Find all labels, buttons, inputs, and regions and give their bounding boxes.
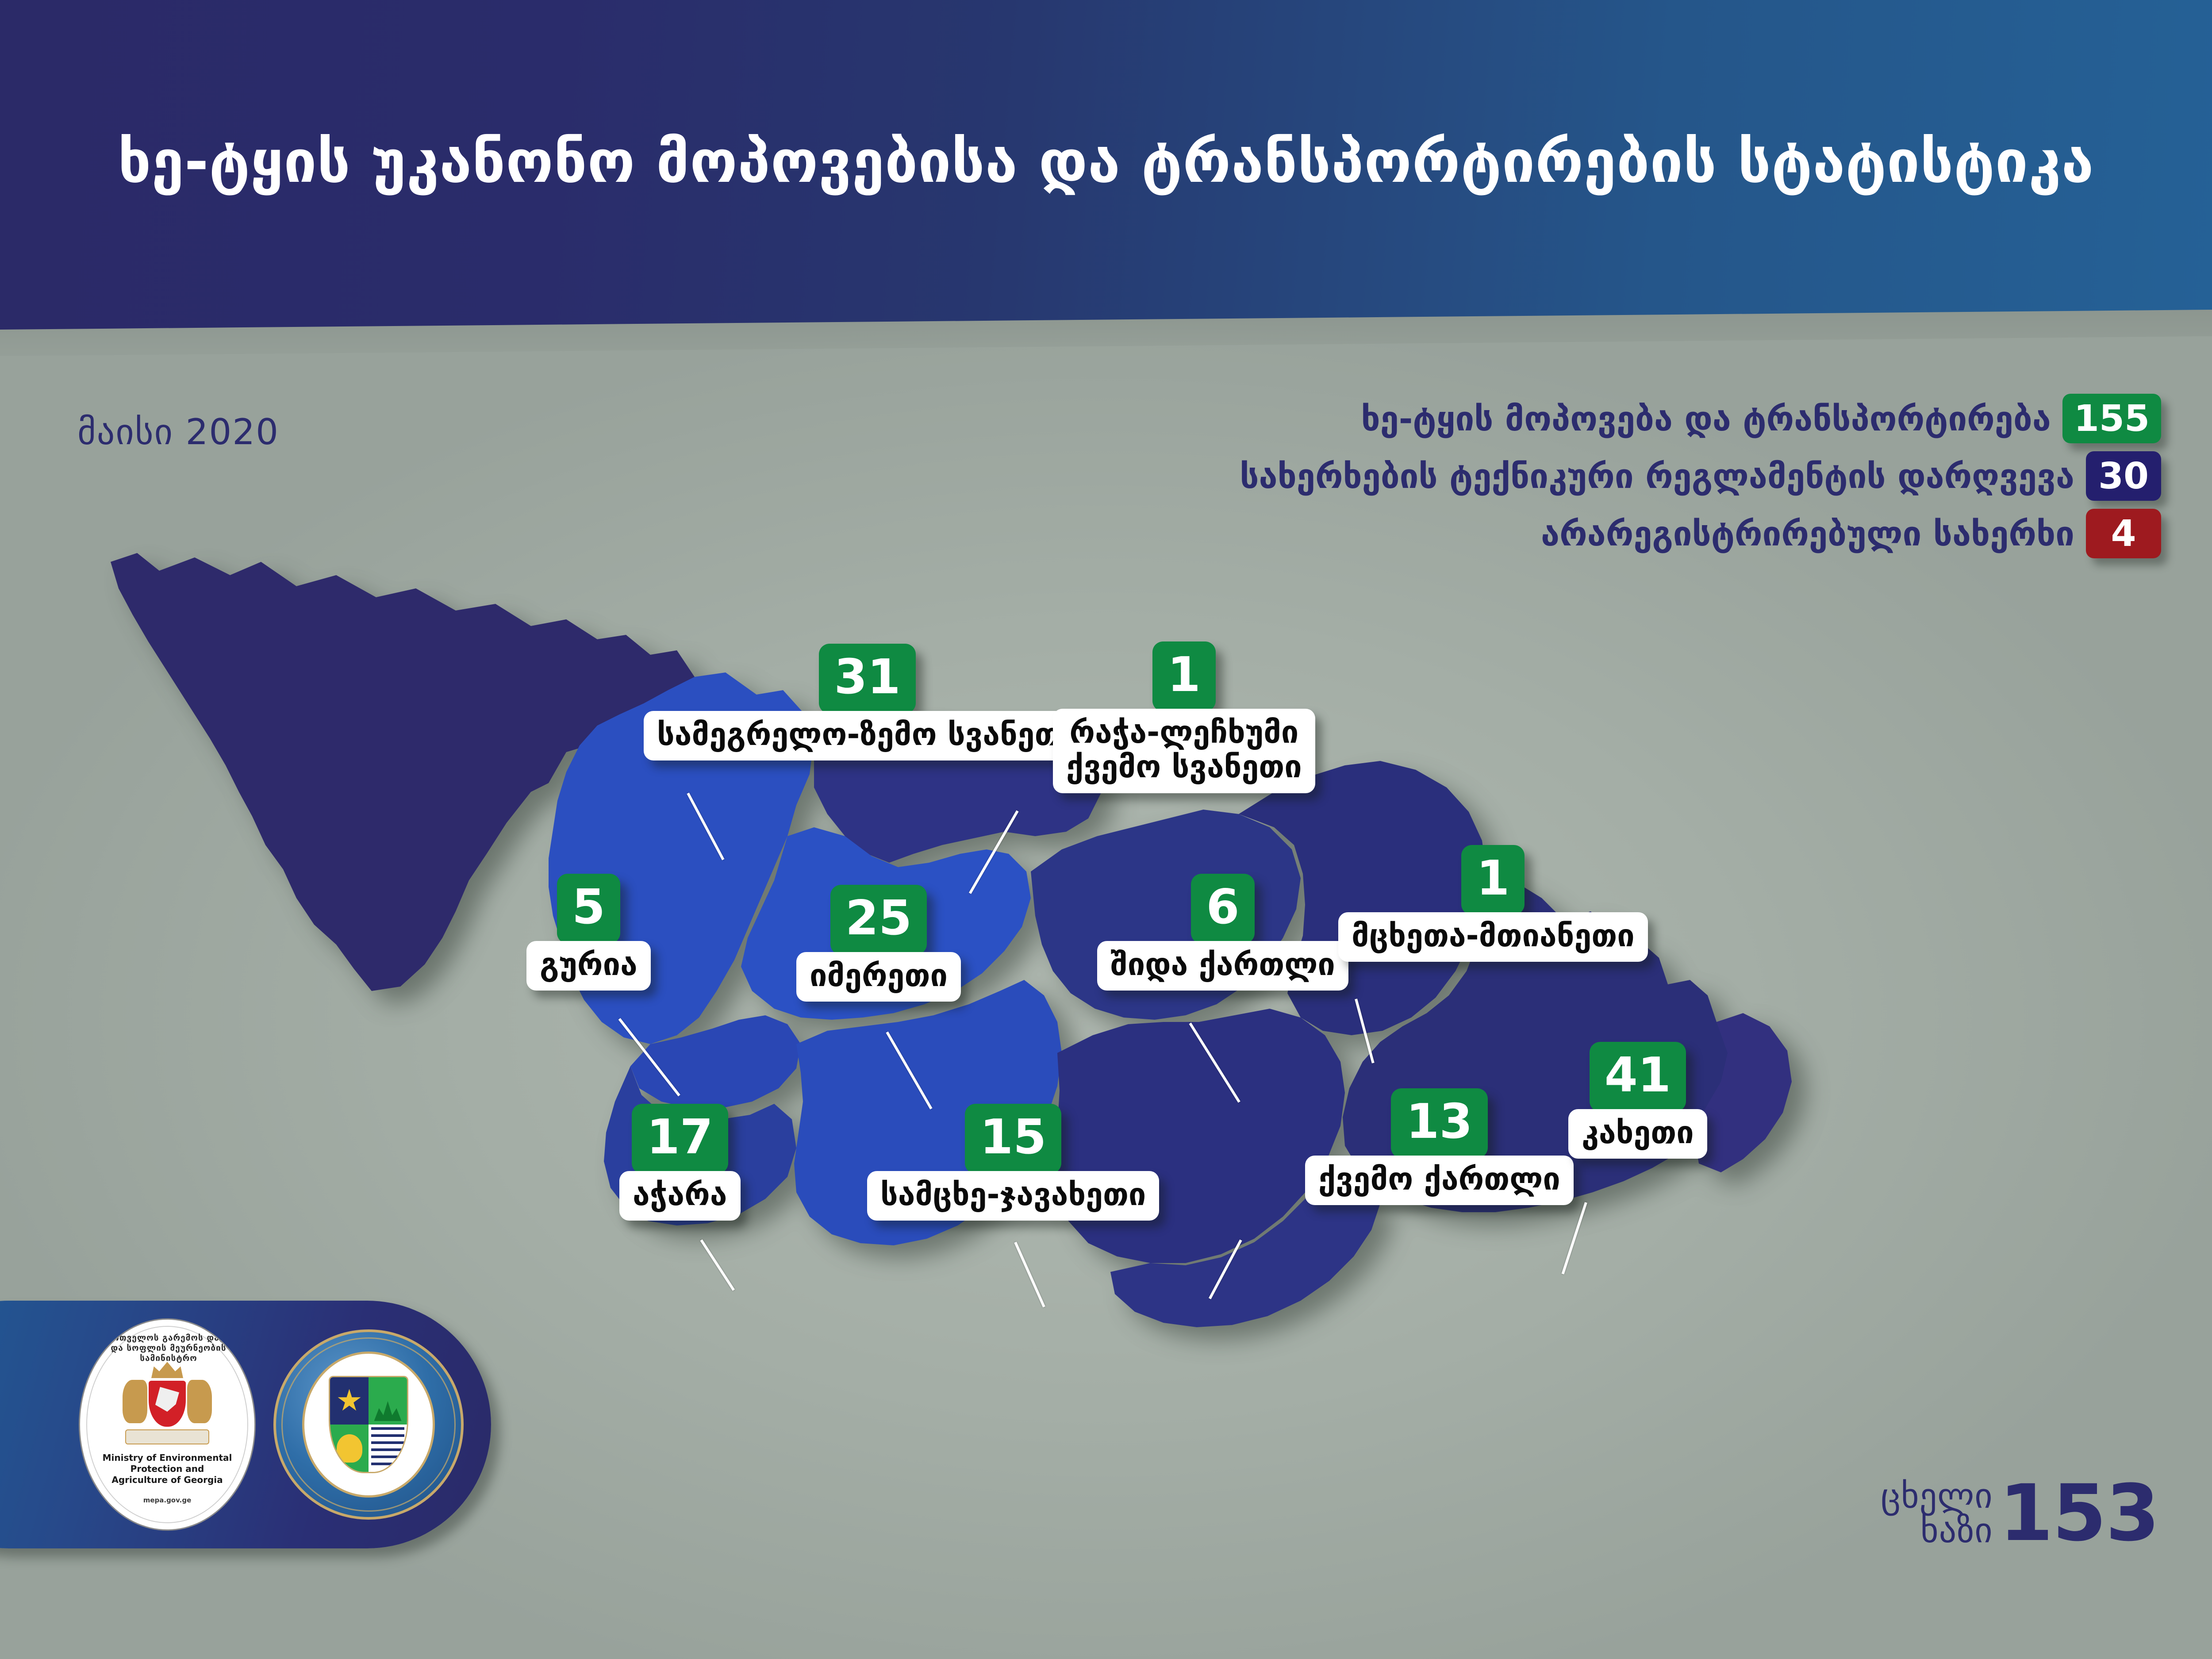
legend-item-sawmill-regulation: სახერხების ტექნიკური რეგლამენტის დარღვევ… xyxy=(1240,451,2161,501)
hotline-line2: ხაზი xyxy=(1920,1513,1993,1548)
region-name-label: კახეთი xyxy=(1568,1109,1707,1159)
region-marker-samegrelo-zemo-svaneti[interactable]: 31 სამეგრელო-ზემო სვანეთი xyxy=(644,644,1091,760)
region-name-label: სამეგრელო-ზემო სვანეთი xyxy=(644,711,1091,760)
hotline: ცხელი ხაზი 153 xyxy=(1881,1479,2159,1548)
hotline-number: 153 xyxy=(1999,1479,2159,1548)
region-count-badge: 15 xyxy=(965,1104,1061,1174)
region-marker-shida-kartli[interactable]: 6 შიდა ქართლი xyxy=(1097,874,1348,991)
region-count-badge: 31 xyxy=(819,644,915,714)
region-name-label: ქვემო ქართლი xyxy=(1305,1156,1574,1205)
mepa-emblem-ka-text: საქართველოს გარემოს დაცვისა და სოფლის მე… xyxy=(80,1333,256,1363)
region-name-label: რაჭა-ლეჩხუმი ქვემო სვანეთი xyxy=(1053,709,1315,793)
tree-quarter-icon xyxy=(330,1425,369,1472)
mepa-emblem: საქართველოს გარემოს დაცვისა და სოფლის მე… xyxy=(79,1318,256,1531)
region-count-badge: 25 xyxy=(830,885,927,955)
quartered-shield-icon xyxy=(329,1376,408,1473)
page-title: ხე-ტყის უკანონო მოპოვებისა და ტრანსპორტი… xyxy=(0,133,2212,191)
legend-value-badge: 155 xyxy=(2062,394,2161,443)
legend: ხე-ტყის მოპოვება და ტრანსპორტირება 155 ს… xyxy=(1240,394,2161,558)
crown-icon xyxy=(151,1360,183,1378)
georgia-coat-of-arms-icon xyxy=(121,1362,214,1437)
waves-quarter-icon xyxy=(369,1425,407,1472)
region-count-badge: 6 xyxy=(1191,874,1254,944)
sun-quarter-icon xyxy=(330,1377,369,1425)
region-count-badge: 1 xyxy=(1461,845,1525,915)
region-marker-kvemo-kartli[interactable]: 13 ქვემო ქართლი xyxy=(1305,1088,1574,1205)
region-marker-kakheti[interactable]: 41 კახეთი xyxy=(1568,1042,1707,1159)
mountains-quarter-icon xyxy=(369,1377,407,1425)
legend-label: სახერხების ტექნიკური რეგლამენტის დარღვევ… xyxy=(1240,457,2074,496)
motto-ribbon-icon xyxy=(125,1429,209,1444)
lion-left-icon xyxy=(123,1380,147,1423)
legend-item-unregistered-sawmill: არარეგისტრირებული სახერხი 4 xyxy=(1541,509,2161,558)
legend-label: ხე-ტყის მოპოვება და ტრანსპორტირება xyxy=(1361,399,2051,438)
region-count-badge: 1 xyxy=(1152,641,1216,711)
region-marker-adjara[interactable]: 17 აჭარა xyxy=(619,1104,741,1221)
footer-logo-panel: საქართველოს გარემოს დაცვისა და სოფლის მე… xyxy=(0,1301,491,1548)
lion-right-icon xyxy=(187,1380,212,1423)
legend-label: არარეგისტრირებული სახერხი xyxy=(1541,514,2074,553)
emblem-inner xyxy=(302,1352,435,1498)
region-name-label: აჭარა xyxy=(619,1171,741,1221)
region-count-badge: 13 xyxy=(1391,1088,1487,1158)
legend-item-extraction-transport: ხე-ტყის მოპოვება და ტრანსპორტირება 155 xyxy=(1361,394,2161,443)
date-label: მაისი 2020 xyxy=(77,411,279,453)
legend-value-badge: 4 xyxy=(2086,509,2161,558)
region-name-label: სამცხე-ჯავახეთი xyxy=(867,1171,1159,1221)
region-name-label: იმერეთი xyxy=(796,952,961,1002)
region-count-badge: 17 xyxy=(632,1104,728,1174)
environmental-supervision-emblem xyxy=(273,1329,464,1520)
legend-value-badge: 30 xyxy=(2086,451,2161,501)
region-marker-imereti[interactable]: 25 იმერეთი xyxy=(796,885,961,1002)
region-name-label: შიდა ქართლი xyxy=(1097,941,1348,991)
region-count-badge: 41 xyxy=(1590,1042,1686,1112)
region-name-label: გურია xyxy=(526,941,651,991)
hotline-line1: ცხელი xyxy=(1881,1479,1993,1513)
region-marker-mtskheta-mtianeti[interactable]: 1 მცხეთა-მთიანეთი xyxy=(1338,845,1648,962)
hotline-words: ცხელი ხაზი xyxy=(1881,1479,1993,1548)
region-marker-samtskhe-javakheti[interactable]: 15 სამცხე-ჯავახეთი xyxy=(867,1104,1159,1221)
region-name-label: მცხეთა-მთიანეთი xyxy=(1338,912,1648,962)
region-marker-guria[interactable]: 5 გურია xyxy=(526,874,651,991)
region-count-badge: 5 xyxy=(557,874,620,944)
region-marker-racha-lechkhumi[interactable]: 1 რაჭა-ლეჩხუმი ქვემო სვანეთი xyxy=(1053,641,1315,793)
